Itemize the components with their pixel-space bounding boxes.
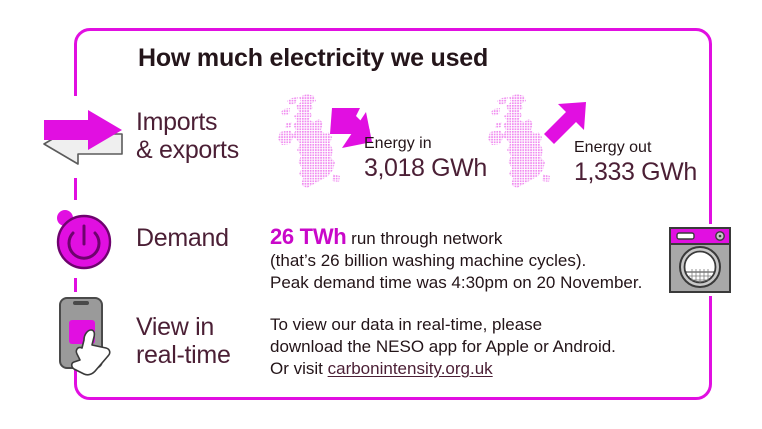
real-time-line-3: Or visit carbonintensity.org.uk [270, 358, 616, 380]
energy-out-map-group [486, 92, 564, 192]
real-time-text-block: To view our data in real-time, please do… [270, 314, 616, 380]
page-title: How much electricity we used [138, 44, 488, 73]
demand-headline-value: 26 TWh [270, 224, 346, 249]
energy-out-value: 1,333 GWh [574, 157, 697, 187]
phone-tap-icon [44, 294, 130, 386]
energy-in-label: Energy in [364, 134, 487, 153]
demand-line-1: 26 TWh run through network [270, 226, 642, 250]
power-button-icon [44, 202, 124, 278]
energy-out-caption: Energy out 1,333 GWh [574, 138, 697, 187]
demand-line-2: (that’s 26 billion washing machine cycle… [270, 250, 642, 272]
row-label-demand: Demand [136, 224, 229, 252]
real-time-line-1: To view our data in real-time, please [270, 314, 616, 336]
energy-in-map-group [276, 92, 354, 192]
carbonintensity-link[interactable]: carbonintensity.org.uk [328, 359, 493, 378]
real-time-line-3-prefix: Or visit [270, 359, 328, 378]
row-label-view-real-time: View in real-time [136, 313, 231, 369]
demand-text-block: 26 TWh run through network (that’s 26 bi… [270, 226, 642, 294]
energy-in-value: 3,018 GWh [364, 153, 487, 183]
two-arrows-icon [36, 98, 130, 178]
washing-machine-icon [664, 224, 736, 296]
demand-line-3: Peak demand time was 4:30pm on 20 Novemb… [270, 272, 642, 294]
row-label-imports-exports: Imports & exports [136, 108, 239, 164]
energy-in-caption: Energy in 3,018 GWh [364, 134, 487, 183]
energy-out-label: Energy out [574, 138, 697, 157]
real-time-line-2: download the NESO app for Apple or Andro… [270, 336, 616, 358]
demand-headline-suffix: run through network [346, 229, 502, 248]
